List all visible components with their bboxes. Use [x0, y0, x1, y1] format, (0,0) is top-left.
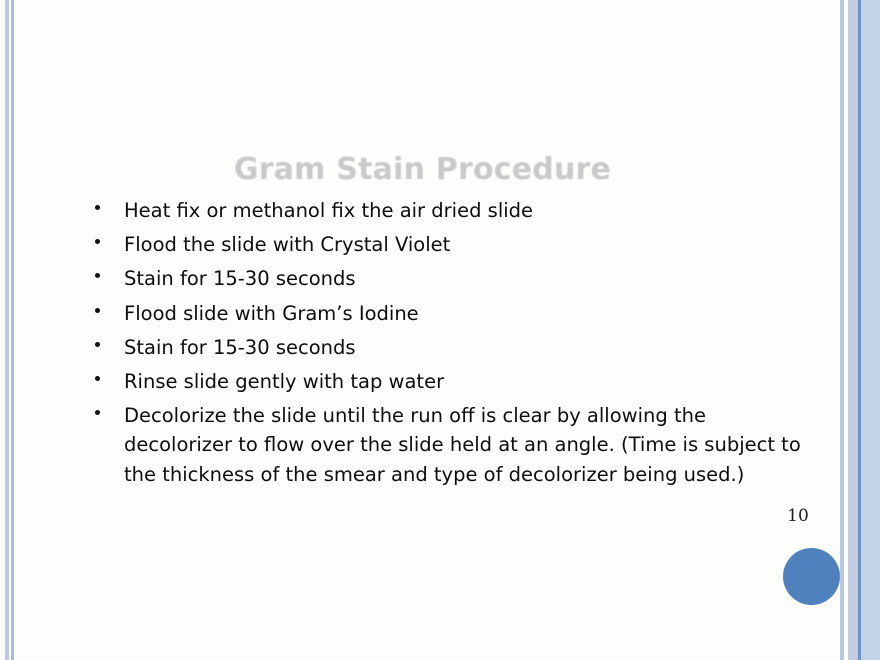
- list-item: Rinse slide gently with tap water: [88, 367, 788, 396]
- list-item: Flood slide with Gram’s Iodine: [88, 299, 788, 328]
- list-item: Stain for 15-30 seconds: [88, 333, 788, 362]
- presentation-slide: Gram Stain Procedure Heat fix or methano…: [0, 0, 880, 660]
- bullet-dot-icon: [95, 205, 100, 210]
- bullet-dot-icon: [95, 342, 100, 347]
- list-item: Stain for 15-30 seconds: [88, 264, 788, 293]
- list-item-text: Stain for 15-30 seconds: [124, 336, 356, 359]
- list-item: Flood the slide with Crystal Violet: [88, 230, 788, 259]
- bullet-dot-icon: [95, 273, 100, 278]
- decorative-circle: [783, 548, 840, 605]
- list-item-text: Flood slide with Gram’s Iodine: [124, 302, 419, 325]
- right-edge-stripe-thin: [840, 0, 844, 660]
- slide-bullet-list: Heat fix or methanol fix the air dried s…: [88, 196, 788, 494]
- slide-title: Gram Stain Procedure: [0, 152, 845, 187]
- bullet-dot-icon: [95, 376, 100, 381]
- bullet-dot-icon: [95, 239, 100, 244]
- list-item-text: Stain for 15-30 seconds: [124, 267, 356, 290]
- list-item-text: Decolorize the slide until the run off i…: [124, 404, 801, 485]
- list-item: Decolorize the slide until the run off i…: [88, 401, 804, 489]
- right-edge-panel-lavender: [848, 0, 858, 660]
- left-edge-stripe-inner: [11, 0, 14, 660]
- right-edge-panel-blue: [861, 0, 880, 660]
- list-item-text: Rinse slide gently with tap water: [124, 370, 444, 393]
- page-number: 10: [786, 506, 810, 527]
- list-item: Heat fix or methanol fix the air dried s…: [88, 196, 788, 225]
- bullet-dot-icon: [95, 410, 100, 415]
- list-item-text: Flood the slide with Crystal Violet: [124, 233, 450, 256]
- list-item-text: Heat fix or methanol fix the air dried s…: [124, 199, 533, 222]
- bullet-dot-icon: [95, 308, 100, 313]
